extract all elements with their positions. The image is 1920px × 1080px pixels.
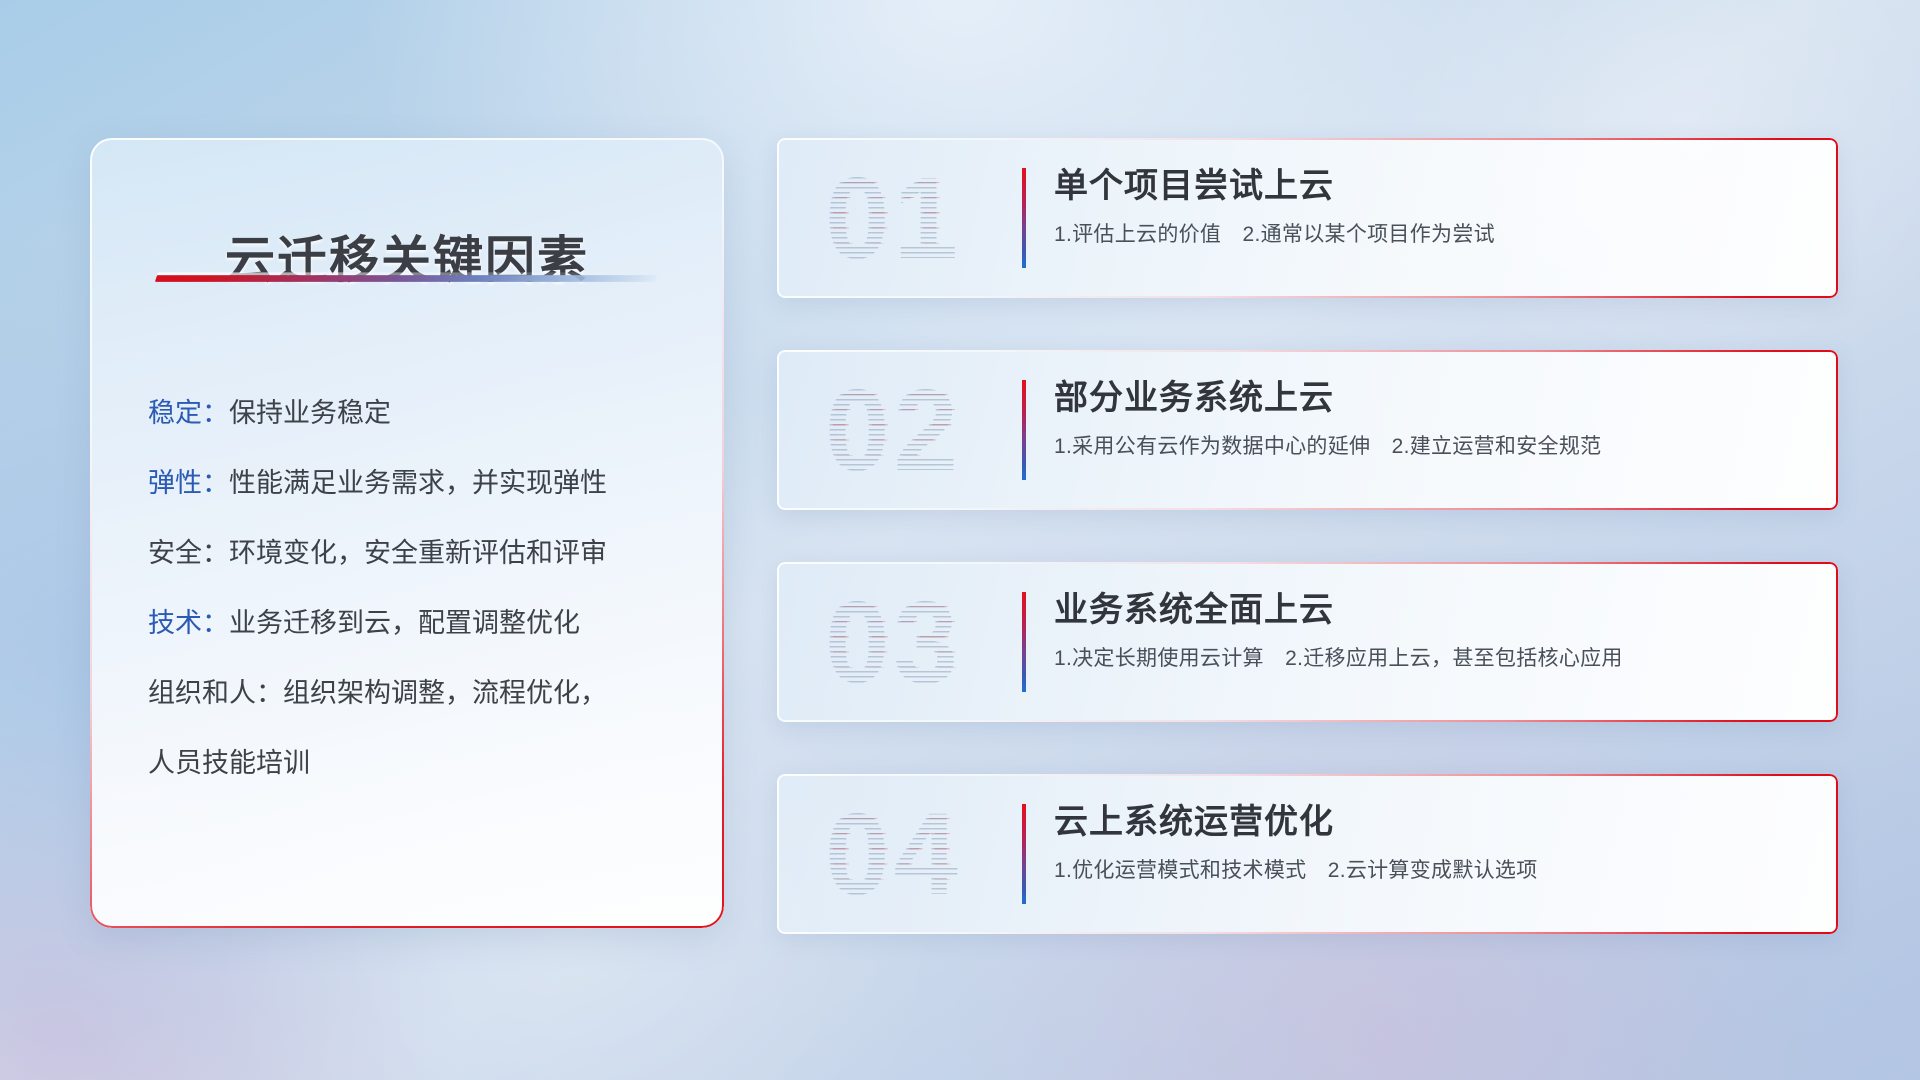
card-title: 业务系统全面上云: [1054, 586, 1808, 634]
stage-number-01: 01: [825, 152, 1025, 284]
stage-number-02: 02: [825, 364, 1025, 496]
factor-key: 稳定：: [148, 398, 229, 428]
card-accent-divider: [1022, 592, 1026, 692]
slide-canvas: 云迁移关键因素 稳定：保持业务稳定 弹性：性能满足业务需求，并实现弹性 安全：环…: [0, 0, 1920, 1080]
card-points: 1.优化运营模式和技术模式 2.云计算变成默认选项: [1054, 856, 1808, 886]
factor-value: 业务迁移到云，配置调整优化: [229, 608, 580, 638]
stage-card-02[interactable]: 02 部分业务系统上云 1.采用公有云作为数据中心的延伸 2.建立运营和安全规范: [777, 350, 1838, 510]
list-item: 技术：业务迁移到云，配置调整优化: [148, 588, 684, 658]
card-accent-divider: [1022, 804, 1026, 904]
list-item: 弹性：性能满足业务需求，并实现弹性: [148, 448, 684, 518]
card-points: 1.决定长期使用云计算 2.迁移应用上云，甚至包括核心应用: [1054, 644, 1808, 674]
factor-key: 安全：: [148, 538, 229, 568]
key-factors-panel: 云迁移关键因素 稳定：保持业务稳定 弹性：性能满足业务需求，并实现弹性 安全：环…: [90, 138, 724, 928]
title-underline-rule: [155, 275, 657, 282]
stage-card-01[interactable]: 01 单个项目尝试上云 1.评估上云的价值 2.通常以某个项目作为尝试: [777, 138, 1838, 298]
list-item: 组织和人：组织架构调整，流程优化，: [148, 658, 684, 728]
stage-card-03[interactable]: 03 业务系统全面上云 1.决定长期使用云计算 2.迁移应用上云，甚至包括核心应…: [777, 562, 1838, 722]
card-body: 云上系统运营优化 1.优化运营模式和技术模式 2.云计算变成默认选项: [1054, 798, 1808, 886]
card-accent-divider: [1022, 168, 1026, 268]
list-item: 安全：环境变化，安全重新评估和评审: [148, 518, 684, 588]
card-title: 部分业务系统上云: [1054, 374, 1808, 422]
factor-value: 保持业务稳定: [229, 398, 391, 428]
list-item-continuation: 人员技能培训: [148, 728, 684, 798]
card-body: 部分业务系统上云 1.采用公有云作为数据中心的延伸 2.建立运营和安全规范: [1054, 374, 1808, 462]
factor-key: 组织和人：: [148, 678, 283, 708]
stage-card-04[interactable]: 04 云上系统运营优化 1.优化运营模式和技术模式 2.云计算变成默认选项: [777, 774, 1838, 934]
stage-number-03: 03: [825, 576, 1025, 708]
card-points: 1.评估上云的价值 2.通常以某个项目作为尝试: [1054, 220, 1808, 250]
list-item: 稳定：保持业务稳定: [148, 378, 684, 448]
card-points: 1.采用公有云作为数据中心的延伸 2.建立运营和安全规范: [1054, 432, 1808, 462]
factor-value: 组织架构调整，流程优化，: [283, 678, 607, 708]
card-body: 业务系统全面上云 1.决定长期使用云计算 2.迁移应用上云，甚至包括核心应用: [1054, 586, 1808, 674]
card-title: 单个项目尝试上云: [1054, 162, 1808, 210]
factor-value: 性能满足业务需求，并实现弹性: [229, 468, 607, 498]
factor-key: 弹性：: [148, 468, 229, 498]
stage-number-04: 04: [825, 788, 1025, 920]
factor-list: 稳定：保持业务稳定 弹性：性能满足业务需求，并实现弹性 安全：环境变化，安全重新…: [148, 378, 684, 798]
factor-key: 技术：: [148, 608, 229, 638]
card-accent-divider: [1022, 380, 1026, 480]
factor-value: 环境变化，安全重新评估和评审: [229, 538, 607, 568]
card-title: 云上系统运营优化: [1054, 798, 1808, 846]
card-body: 单个项目尝试上云 1.评估上云的价值 2.通常以某个项目作为尝试: [1054, 162, 1808, 250]
stage-card-list: 01 单个项目尝试上云 1.评估上云的价值 2.通常以某个项目作为尝试 02 部…: [777, 138, 1838, 986]
